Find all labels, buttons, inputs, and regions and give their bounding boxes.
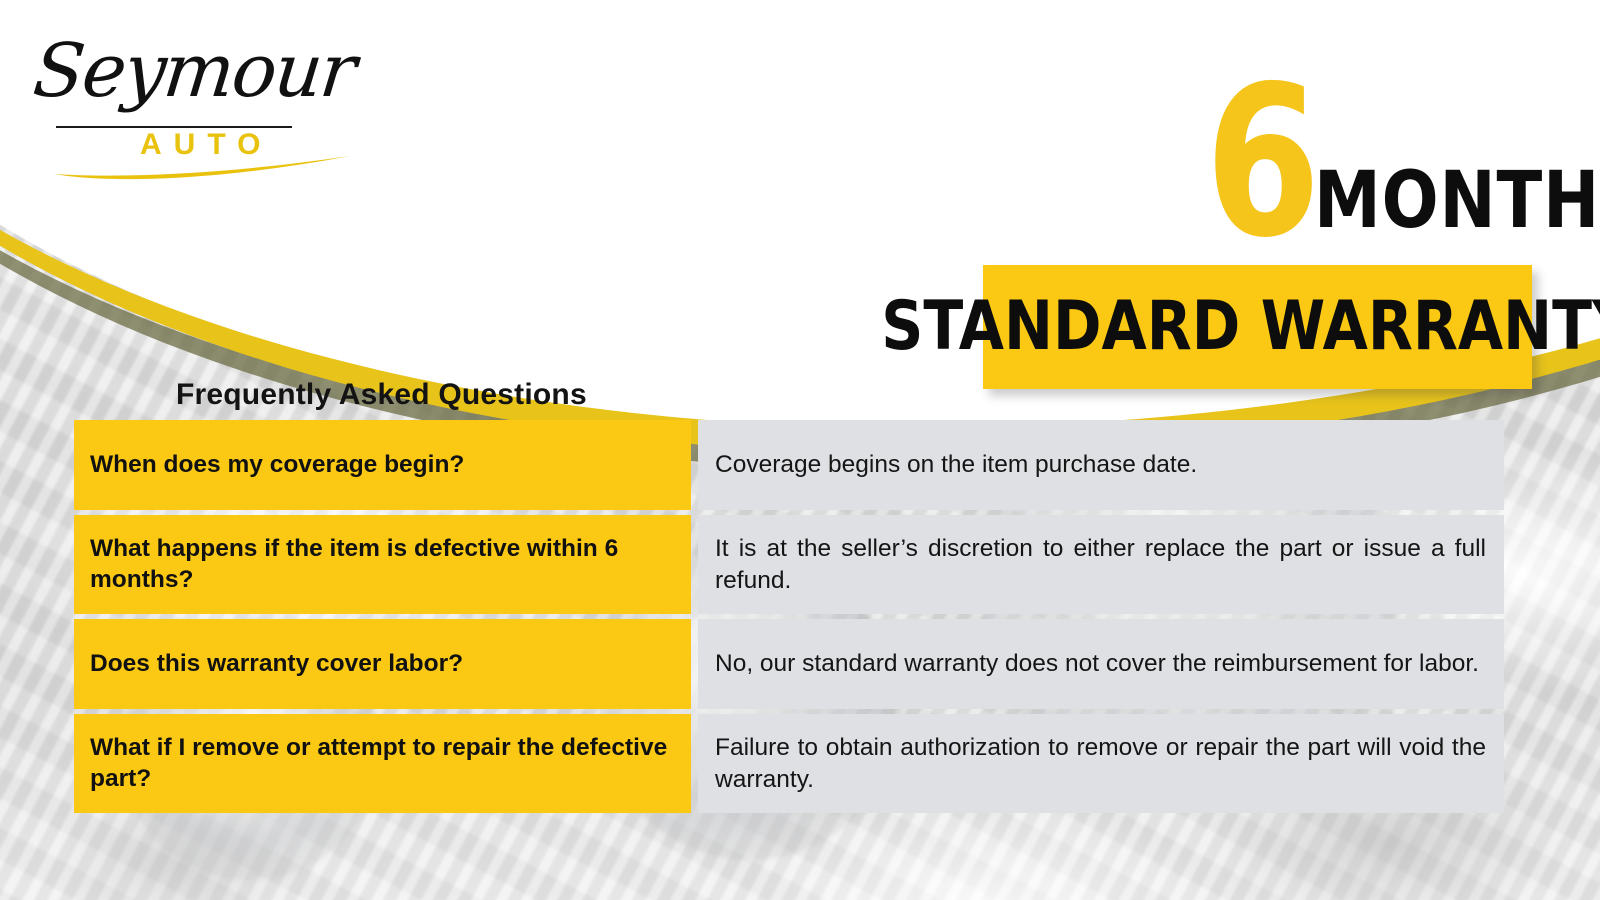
faq-heading: Frequently Asked Questions bbox=[176, 378, 587, 412]
faq-answer-text: Failure to obtain authorization to remov… bbox=[715, 732, 1486, 795]
table-row: What if I remove or attempt to repair th… bbox=[74, 714, 1504, 813]
faq-answer-cell: Failure to obtain authorization to remov… bbox=[698, 714, 1504, 813]
faq-question-text: When does my coverage begin? bbox=[90, 450, 464, 481]
faq-question-cell: What happens if the item is defective wi… bbox=[74, 515, 691, 614]
term-number: 6 bbox=[1205, 80, 1316, 246]
banner-title: STANDARD WARRANTY bbox=[881, 293, 1600, 361]
faq-answer-text: Coverage begins on the item purchase dat… bbox=[715, 449, 1486, 480]
faq-answer-text: It is at the seller’s discretion to eith… bbox=[715, 533, 1486, 596]
faq-answer-cell: Coverage begins on the item purchase dat… bbox=[698, 420, 1504, 510]
warranty-term: 6 MONTH bbox=[1205, 80, 1600, 246]
faq-question-cell: What if I remove or attempt to repair th… bbox=[74, 714, 691, 813]
table-row: Does this warranty cover labor? No, our … bbox=[74, 619, 1504, 709]
term-unit: MONTH bbox=[1314, 164, 1600, 246]
faq-answer-cell: It is at the seller’s discretion to eith… bbox=[698, 515, 1504, 614]
faq-answer-text: No, our standard warranty does not cover… bbox=[715, 648, 1486, 679]
standard-warranty-banner: STANDARD WARRANTY bbox=[983, 265, 1532, 389]
faq-question-cell: Does this warranty cover labor? bbox=[74, 619, 691, 709]
faq-answer-cell: No, our standard warranty does not cover… bbox=[698, 619, 1504, 709]
faq-table: When does my coverage begin? Coverage be… bbox=[74, 420, 1504, 813]
faq-question-text: What happens if the item is defective wi… bbox=[90, 534, 673, 596]
faq-question-cell: When does my coverage begin? bbox=[74, 420, 691, 510]
table-row: When does my coverage begin? Coverage be… bbox=[74, 420, 1504, 510]
logo-swoosh-icon bbox=[52, 150, 352, 184]
faq-question-text: Does this warranty cover labor? bbox=[90, 649, 463, 680]
warranty-slide: Seymour AUTO 6 MONTH STANDARD WARRANTY F… bbox=[0, 0, 1600, 900]
table-row: What happens if the item is defective wi… bbox=[74, 515, 1504, 614]
seymour-auto-logo: Seymour AUTO bbox=[30, 22, 340, 182]
logo-wordmark: Seymour bbox=[29, 28, 358, 114]
faq-question-text: What if I remove or attempt to repair th… bbox=[90, 733, 673, 795]
